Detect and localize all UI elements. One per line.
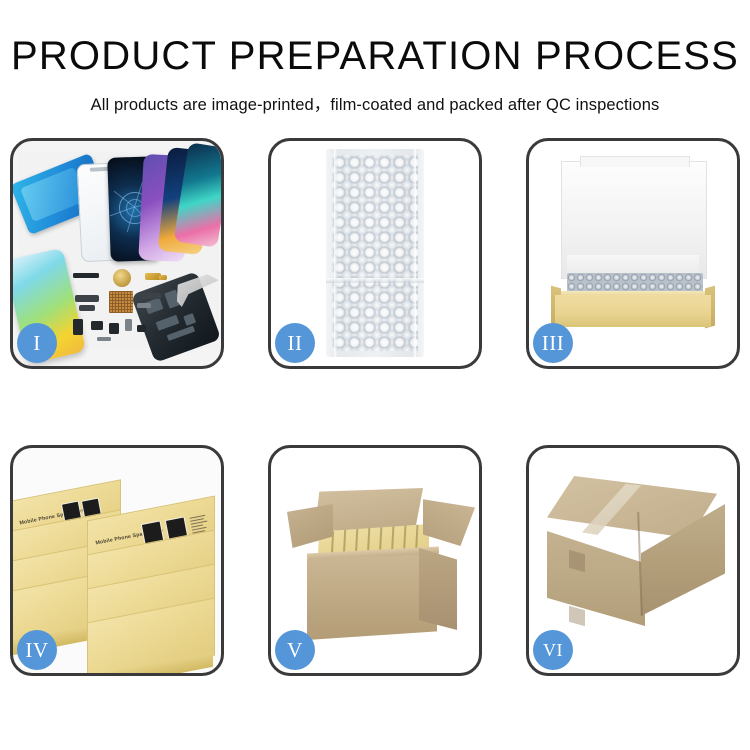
spare-parts-cluster [71, 269, 181, 355]
step-badge-4: IV [17, 630, 57, 670]
retail-box [87, 610, 213, 666]
page-title: PRODUCT PREPARATION PROCESS [0, 36, 750, 76]
open-inner-box [547, 155, 719, 339]
header: PRODUCT PREPARATION PROCESS All products… [0, 0, 750, 115]
box-front-wall [555, 295, 711, 327]
carton-side [419, 548, 457, 630]
step-panel-1: I [10, 138, 224, 369]
step-badge-1: I [17, 323, 57, 363]
step-badge-3: III [533, 323, 573, 363]
step-badge-5: V [275, 630, 315, 670]
page-subtitle: All products are image-printed，film-coat… [0, 91, 750, 115]
step-panel-2: II [268, 138, 482, 369]
sealed-shipping-carton [547, 470, 725, 654]
carton-flap-right [423, 494, 475, 546]
step-panel-3: III [526, 138, 740, 369]
carton-front [307, 554, 437, 640]
process-step-grid: I II [10, 138, 740, 680]
step-badge-2: II [275, 323, 315, 363]
step-panel-5: V [268, 445, 482, 676]
product-preparation-infographic: PRODUCT PREPARATION PROCESS All products… [0, 0, 750, 750]
step-panel-6: VI [526, 445, 740, 676]
bubble-wrap-sleeve [326, 149, 424, 357]
step-badge-6: VI [533, 630, 573, 670]
open-shipping-carton [293, 482, 463, 652]
step-panel-4: Mobile Phone Spare Parts [10, 445, 224, 676]
